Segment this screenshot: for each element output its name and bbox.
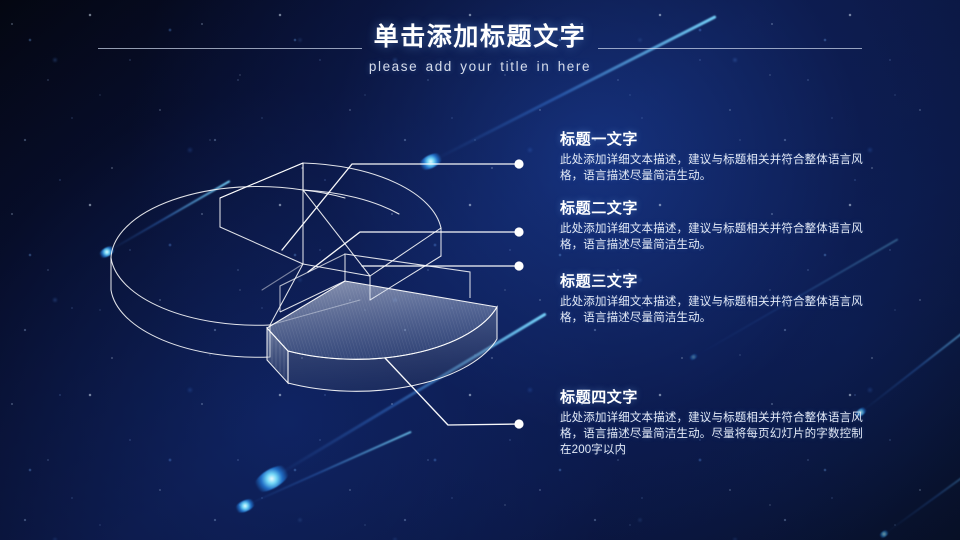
pie-slice-2-raised-face xyxy=(220,163,303,227)
block-3-body: 此处添加详细文本描述，建议与标题相关并符合整体语言风格，语言描述尽量简洁生动。 xyxy=(560,294,868,326)
leader-dot-4[interactable] xyxy=(514,419,523,428)
block-2-heading: 标题二文字 xyxy=(560,197,868,218)
block-1-body: 此处添加详细文本描述，建议与标题相关并符合整体语言风格，语言描述尽量简洁生动。 xyxy=(560,152,868,184)
leader-dot-3[interactable] xyxy=(514,261,523,270)
pie-slice-1-top-arc xyxy=(111,186,303,258)
leader-dot-1[interactable] xyxy=(514,159,523,168)
content-block-4: 标题四文字 此处添加详细文本描述，建议与标题相关并符合整体语言风格，语言描述尽量… xyxy=(560,386,868,458)
pie-slice-1-radial-cuts xyxy=(220,227,303,325)
pie-slice-4-highlight xyxy=(267,254,497,391)
pie-inner-guide-a xyxy=(262,264,303,290)
slide-canvas: 单击添加标题文字 please add your title in here xyxy=(0,0,960,540)
content-block-2: 标题二文字 此处添加详细文本描述，建议与标题相关并符合整体语言风格，语言描述尽量… xyxy=(560,197,868,253)
block-1-heading: 标题一文字 xyxy=(560,128,868,149)
pie-slice-1-bottom-arc xyxy=(111,258,270,325)
block-4-heading: 标题四文字 xyxy=(560,386,868,407)
pie-slice-3-top-arc-back xyxy=(303,163,441,228)
pie-slice-2-raised-top xyxy=(220,163,303,198)
content-block-1: 标题一文字 此处添加详细文本描述，建议与标题相关并符合整体语言风格，语言描述尽量… xyxy=(560,128,868,184)
block-4-body: 此处添加详细文本描述，建议与标题相关并符合整体语言风格，语言描述尽量简洁生动。尽… xyxy=(560,410,868,458)
leader-line-1 xyxy=(282,164,519,250)
leader-dot-2[interactable] xyxy=(514,227,523,236)
block-2-body: 此处添加详细文本描述，建议与标题相关并符合整体语言风格，语言描述尽量简洁生动。 xyxy=(560,221,868,253)
pie-slice-3-rim xyxy=(303,190,399,214)
block-3-heading: 标题三文字 xyxy=(560,270,868,291)
pie-slice-1-side xyxy=(111,258,270,357)
content-block-3: 标题三文字 此处添加详细文本描述，建议与标题相关并符合整体语言风格，语言描述尽量… xyxy=(560,270,868,326)
leader-dots-group xyxy=(514,159,523,428)
pie-slice-3-radials xyxy=(303,190,441,276)
